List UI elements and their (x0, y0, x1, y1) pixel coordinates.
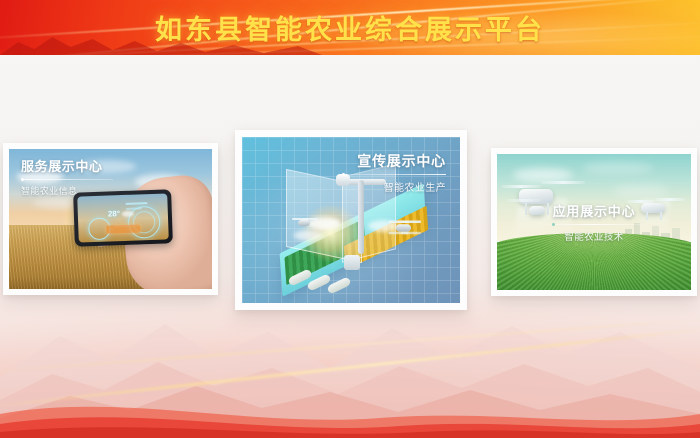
card-application-subtitle: 智能农业技术 (546, 229, 642, 243)
drone-leg (525, 203, 527, 215)
drone-body (298, 220, 310, 226)
drone-tank (529, 206, 545, 215)
drone-rotor (655, 198, 685, 201)
card-application-display-center[interactable]: 应用展示中心 智能农业技术 (491, 148, 697, 296)
card-service-image: 28° 服务展示中心 智能农业信息 (9, 149, 212, 289)
app-stage: 如东县智能农业综合展示平台 (0, 0, 700, 438)
drone-leg (660, 212, 662, 220)
drone-rotor (302, 218, 318, 220)
card-promotion-image: 宣传展示中心 智能农业生产 (242, 137, 460, 303)
hud-panel (106, 224, 140, 233)
caption-rule (546, 224, 642, 225)
temperature-readout: 28° (108, 209, 120, 218)
card-promotion-title: 宣传展示中心 (342, 155, 446, 170)
drone-rotor (627, 200, 655, 203)
drone-rotor (401, 232, 421, 235)
card-service-caption: 服务展示中心 智能农业信息 (21, 161, 113, 197)
drone-rotor (541, 181, 585, 184)
header-banner: 如东县智能农业综合展示平台 (0, 0, 700, 55)
card-application-title: 应用展示中心 (546, 206, 642, 220)
background-red-wave (0, 384, 700, 438)
cloud-icon (294, 230, 322, 241)
drone-rotor (401, 221, 421, 224)
storage-barrel-icon (344, 255, 360, 270)
card-service-subtitle: 智能农业信息 (21, 184, 113, 197)
drone-leg (646, 212, 648, 220)
hud-bar (125, 202, 147, 205)
card-service-title: 服务展示中心 (21, 161, 113, 175)
caption-rule (21, 179, 113, 180)
drone-rotor (501, 185, 541, 188)
card-application-image: 应用展示中心 智能农业技术 (497, 154, 691, 290)
card-promotion-caption: 宣传展示中心 智能农业生产 (342, 155, 446, 194)
card-promotion-subtitle: 智能农业生产 (342, 179, 446, 194)
card-application-caption: 应用展示中心 智能农业技术 (546, 206, 642, 243)
card-service-display-center[interactable]: 28° 服务展示中心 智能农业信息 (3, 143, 218, 295)
page-title: 如东县智能农业综合展示平台 (0, 0, 700, 55)
phone-screen: 28° (77, 193, 169, 242)
drone-rotor (507, 199, 541, 202)
smartphone-icon: 28° (73, 189, 173, 246)
card-promotion-display-center[interactable]: 宣传展示中心 智能农业生产 (235, 130, 467, 310)
caption-rule (342, 174, 446, 175)
